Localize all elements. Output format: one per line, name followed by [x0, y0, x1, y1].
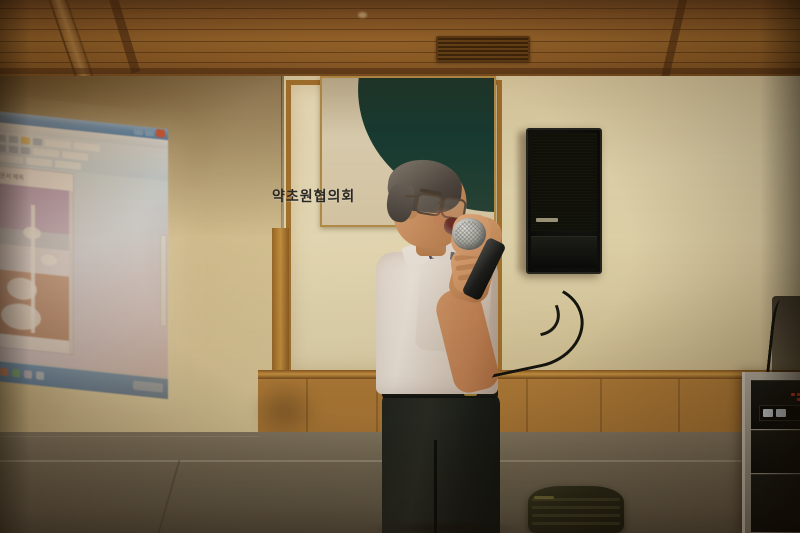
bag-zipper [534, 496, 554, 499]
microphone-head-icon [452, 218, 486, 250]
projection-screen: 문서 제목 [0, 111, 168, 399]
toolbar-field[interactable] [0, 154, 23, 164]
toolbar-icon[interactable] [21, 147, 30, 155]
toolbar-icon-highlight[interactable] [21, 137, 30, 145]
air-vent-icon [436, 36, 530, 62]
taskbar-icons[interactable] [0, 367, 44, 380]
document-page: 문서 제목 [0, 165, 74, 355]
window-scrollbar[interactable] [160, 234, 167, 327]
document-photo [0, 183, 73, 341]
toolbar-field[interactable] [26, 157, 52, 167]
microphone-mesh [455, 221, 483, 247]
window-document-area: 문서 제목 [0, 163, 168, 377]
maximize-icon[interactable] [145, 128, 154, 137]
wooden-ceiling [0, 0, 800, 86]
ceiling-spot-light [358, 12, 367, 18]
rack-display [759, 405, 800, 421]
audio-equipment-rack [742, 372, 800, 533]
floor-bag [528, 486, 624, 533]
minimize-icon[interactable] [134, 127, 143, 136]
taskbar-icon[interactable] [36, 371, 44, 380]
toolbar-field[interactable] [45, 139, 71, 149]
toolbar-field[interactable] [62, 151, 88, 161]
taskbar-icon[interactable] [0, 367, 8, 376]
toolbar-icon[interactable] [9, 135, 18, 143]
toolbar-icon[interactable] [9, 145, 18, 153]
rack-led-indicator [791, 393, 795, 396]
taskbar-icon[interactable] [12, 369, 20, 378]
system-tray[interactable] [133, 380, 163, 392]
toolbar-field[interactable] [74, 142, 100, 152]
microphone [452, 218, 572, 348]
trousers [382, 392, 500, 533]
rack-unit-top[interactable] [751, 380, 800, 429]
toolbar-icon[interactable] [33, 138, 42, 146]
ceiling-rail [0, 68, 800, 74]
taskbar-icon[interactable] [24, 370, 32, 379]
wall-wood-post [272, 228, 289, 376]
rack-unit-bottom[interactable] [751, 474, 800, 532]
photo-scene: 약초원협의회 [0, 0, 800, 533]
rack-unit-middle[interactable] [751, 430, 800, 473]
toolbar-icon[interactable] [0, 134, 6, 142]
toolbar-field[interactable] [55, 160, 81, 170]
toolbar-field[interactable] [33, 148, 59, 158]
close-icon[interactable] [156, 129, 165, 138]
presenter-floor-shadow [370, 520, 520, 533]
wall-shadow [250, 380, 320, 440]
document-scrollbar[interactable] [69, 191, 73, 354]
toolbar-icon[interactable] [0, 144, 6, 152]
